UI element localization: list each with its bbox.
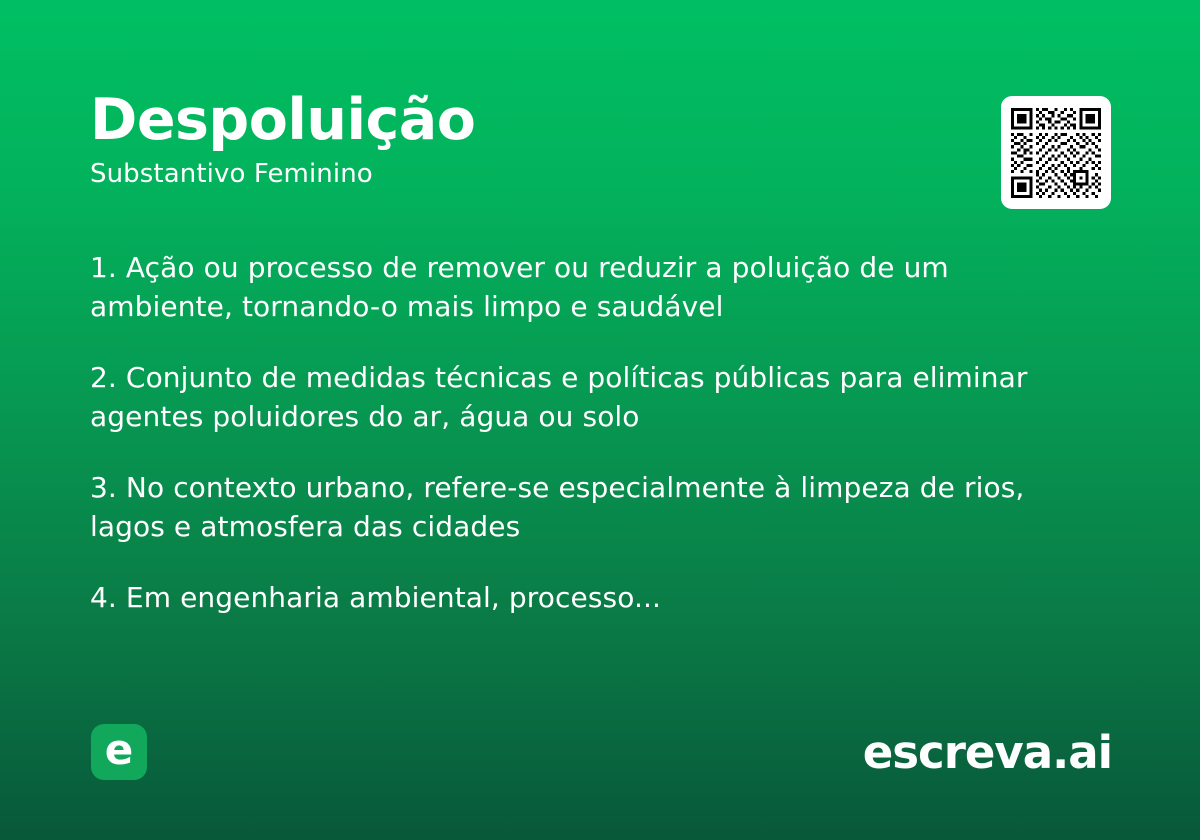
header: Despoluição Substantivo Feminino <box>90 88 950 190</box>
definition-card: Despoluição Substantivo Feminino <box>0 0 1200 840</box>
definition-item: 1. Ação ou processo de remover ou reduzi… <box>90 248 1070 326</box>
qr-code-card[interactable] <box>1001 96 1111 209</box>
definition-item: 4. Em engenharia ambiental, processo... <box>90 578 1070 617</box>
brand-logo-badge: e <box>91 724 147 780</box>
definition-item: 2. Conjunto de medidas técnicas e políti… <box>90 358 1070 436</box>
page-title: Despoluição <box>90 88 950 152</box>
definitions-list: 1. Ação ou processo de remover ou reduzi… <box>90 248 1070 617</box>
definition-item: 3. No contexto urbano, refere-se especia… <box>90 468 1070 546</box>
brand-logo-letter: e <box>105 729 134 771</box>
brand-wordmark: escreva.ai <box>863 726 1112 780</box>
qr-code-icon <box>1011 108 1101 198</box>
word-class-label: Substantivo Feminino <box>90 158 950 190</box>
